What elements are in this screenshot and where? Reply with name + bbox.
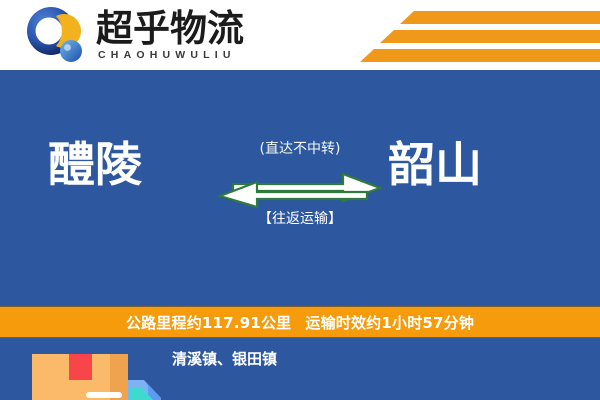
main-panel: 醴陵 (直达不中转) 【往返运输】 韶山 公路里程约117.91公里 — [0, 70, 600, 400]
brand-name-en: CHAOHUWULIU — [96, 49, 244, 62]
direct-route-note: (直达不中转) — [215, 140, 385, 158]
logistics-route-card: 超乎物流 CHAOHUWULIU 醴陵 (直达不中转) — [0, 0, 600, 400]
stripe-3 — [360, 49, 600, 62]
stripe-2 — [380, 30, 600, 43]
origin-city: 醴陵 — [48, 138, 142, 194]
distance-text: 公路里程约117.91公里 — [126, 312, 291, 333]
route-row: 醴陵 (直达不中转) 【往返运输】 韶山 — [0, 100, 600, 240]
destination-city: 韶山 — [388, 138, 482, 194]
delivery-truck-icon — [28, 346, 170, 400]
duration-text: 运输时效约1小时57分钟 — [305, 312, 474, 333]
brand-name-cn: 超乎物流 — [96, 9, 244, 49]
coverage-section: 清溪镇、银田镇 — [0, 338, 600, 400]
circle-crescent-logo-icon — [26, 6, 88, 64]
route-info-banner: 公路里程约117.91公里 运输时效约1小时57分钟 — [0, 306, 600, 338]
round-trip-note: 【往返运输】 — [215, 210, 385, 228]
decorative-stripes — [310, 0, 600, 70]
brand-text: 超乎物流 CHAOHUWULIU — [96, 9, 244, 62]
route-middle: (直达不中转) 【往返运输】 — [215, 100, 385, 240]
header-bar: 超乎物流 CHAOHUWULIU — [0, 0, 600, 70]
covered-towns-text: 清溪镇、银田镇 — [172, 348, 277, 370]
double-arrow-icon — [217, 170, 383, 208]
brand-logo: 超乎物流 CHAOHUWULIU — [26, 6, 244, 64]
stripe-1 — [400, 11, 600, 24]
